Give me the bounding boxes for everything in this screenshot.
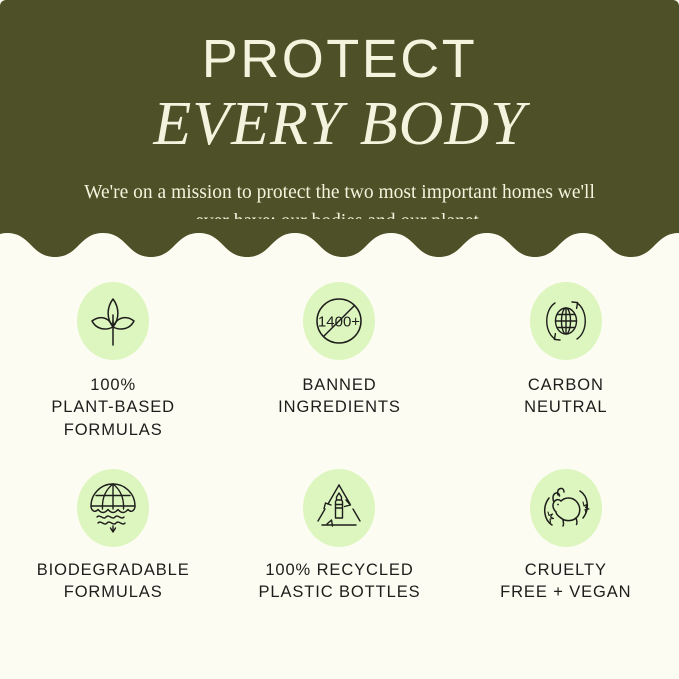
- feature-label: CARBON NEUTRAL: [524, 374, 607, 419]
- feature-label: CRUELTY FREE + VEGAN: [500, 559, 631, 604]
- feature-label: 100% PLANT-BASED FORMULAS: [51, 374, 175, 441]
- feature-label: BIODEGRADABLE FORMULAS: [37, 559, 190, 604]
- feature-label: BANNED INGREDIENTS: [278, 374, 401, 419]
- banned-ingredients-icon: 1400+: [309, 291, 369, 351]
- brand-values-poster: PROTECT EVERY BODY We're on a mission to…: [0, 0, 679, 679]
- icon-container: [74, 469, 152, 547]
- feature-banned-ingredients: 1400+ BANNED INGREDIENTS: [226, 282, 452, 441]
- plant-leaves-icon: [83, 291, 143, 351]
- feature-recycled-bottles: 100% RECYCLED PLASTIC BOTTLES: [226, 469, 452, 604]
- icon-container: [527, 282, 605, 360]
- feature-label: 100% RECYCLED PLASTIC BOTTLES: [258, 559, 420, 604]
- page-title-line-1: PROTECT: [0, 32, 679, 86]
- feature-cruelty-free: CRUELTY FREE + VEGAN: [453, 469, 679, 604]
- feature-grid: 100% PLANT-BASED FORMULAS 1400+ BANNED I…: [0, 282, 679, 603]
- icon-container: [300, 469, 378, 547]
- wavy-divider: [0, 219, 679, 263]
- feature-biodegradable: BIODEGRADABLE FORMULAS: [0, 469, 226, 604]
- icon-container: [527, 469, 605, 547]
- carbon-neutral-globe-icon: [536, 291, 596, 351]
- hero-content: PROTECT EVERY BODY We're on a mission to…: [0, 0, 679, 236]
- hero-banner: PROTECT EVERY BODY We're on a mission to…: [0, 0, 679, 262]
- icon-container: 1400+: [300, 282, 378, 360]
- feature-plant-based: 100% PLANT-BASED FORMULAS: [0, 282, 226, 441]
- biodegradable-globe-water-icon: [83, 478, 143, 538]
- cruelty-free-rabbit-icon: [536, 478, 596, 538]
- banned-count-text: 1400+: [318, 314, 360, 331]
- page-title-line-2: EVERY BODY: [0, 90, 679, 159]
- icon-container: [74, 282, 152, 360]
- feature-carbon-neutral: CARBON NEUTRAL: [453, 282, 679, 441]
- recycled-bottle-icon: [309, 478, 369, 538]
